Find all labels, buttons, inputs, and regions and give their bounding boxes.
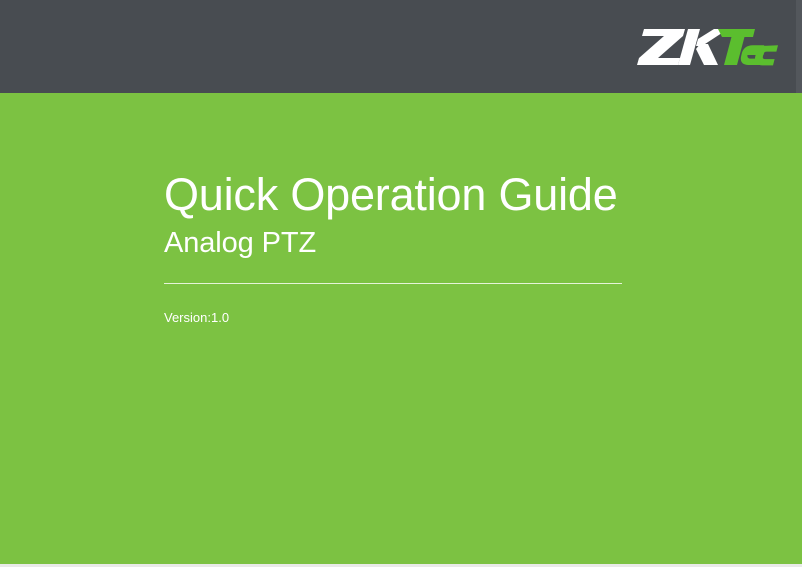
cover-page: Quick Operation Guide Analog PTZ Version… [0,0,802,567]
page-title: Quick Operation Guide [164,169,634,221]
title-block: Quick Operation Guide Analog PTZ Version… [164,169,634,327]
zkteco-logo [636,24,778,70]
version-label: Version:1.0 [164,309,634,327]
logo-letter-z [637,29,685,65]
header-right-edge [796,0,802,93]
logo-letter-k-lower [696,44,718,65]
cover-body: Quick Operation Guide Analog PTZ Version… [0,93,802,567]
header-band [0,0,802,93]
title-divider [164,283,622,284]
page-subtitle: Analog PTZ [164,225,634,261]
